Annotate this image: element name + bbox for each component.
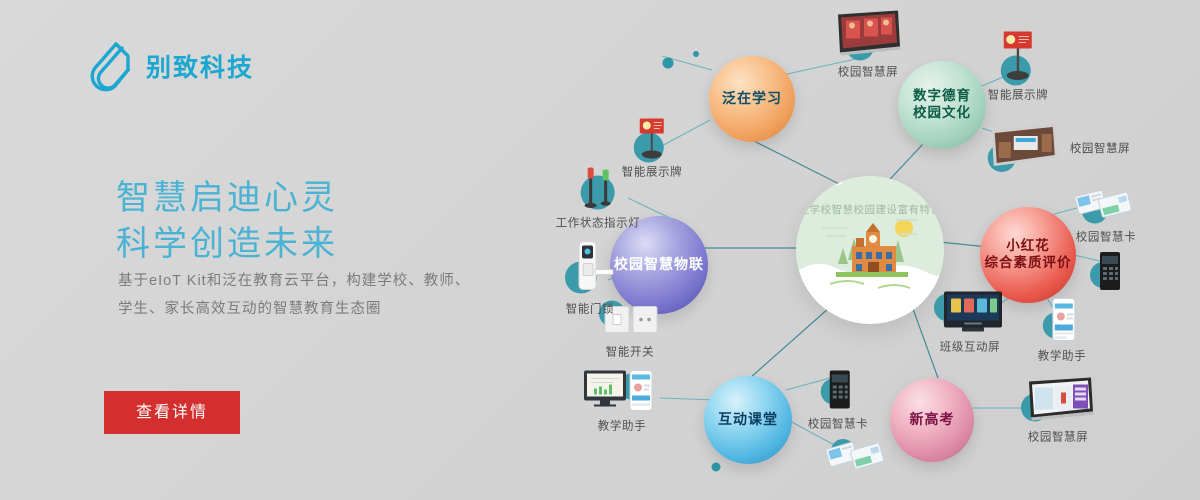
leaf-label: 校园智慧屏 — [1028, 429, 1089, 445]
leaf-label: 智能开关 — [606, 344, 654, 360]
brand-logo-block[interactable]: 别致科技 — [88, 40, 254, 92]
node-label: 新高考 — [910, 411, 955, 429]
leaf-label: 智能展示牌 — [988, 87, 1049, 103]
hero-subtitle: 基于eIoT Kit和泛在教育云平台，构建学校、教师、 学生、家长高效互动的智慧… — [118, 267, 538, 323]
desktop-mobile-icon — [582, 367, 662, 415]
node-label-line1: 数字德育 — [913, 88, 971, 105]
leaf-campus-smart-screen-top[interactable]: 校园智慧屏 — [832, 9, 904, 80]
mobile-app-icon — [1043, 297, 1081, 345]
center-hub-label: 让学校智慧校园建设富有特色 — [796, 204, 944, 217]
door-lock-icon — [563, 240, 617, 298]
page-title: 智慧启迪心灵 科学创造未来 — [116, 175, 338, 267]
headline-line-1: 智慧启迪心灵 — [116, 175, 338, 221]
leaf-card-reader-device[interactable] — [1090, 250, 1126, 294]
leaf-teaching-assistant-left[interactable]: 教学助手 — [582, 367, 662, 434]
signboard-icon — [996, 30, 1040, 84]
school-building-illustration — [796, 176, 944, 324]
paperclip-icon — [88, 40, 134, 92]
leaf-label: 校园智慧卡 — [808, 416, 869, 432]
leaf-label: 校园智慧卡 — [1076, 229, 1137, 245]
brand-name: 别致科技 — [146, 48, 254, 84]
leaf-label: 班级互动屏 — [940, 339, 1001, 355]
left-content-panel: 别致科技 智慧启迪心灵 科学创造未来 基于eIoT Kit和泛在教育云平台，构建… — [0, 0, 560, 500]
node-digital-moral-education[interactable]: 数字德育 校园文化 — [898, 61, 986, 149]
leaf-label: 校园智慧屏 — [838, 64, 899, 80]
node-label: 互动课堂 — [718, 411, 778, 429]
headline-line-2: 科学创造未来 — [116, 221, 338, 267]
leaf-label: 教学助手 — [598, 418, 646, 434]
card-reader-icon — [1090, 250, 1126, 294]
leaf-smart-cards-bottom[interactable] — [827, 437, 889, 477]
node-label-line2: 校园文化 — [913, 105, 971, 122]
signboard-icon — [630, 117, 674, 161]
tv-screen-icon — [832, 9, 904, 61]
diagram-center-hub[interactable]: 让学校智慧校园建设富有特色 — [796, 176, 944, 324]
leaf-label: 智能门锁 — [566, 301, 614, 317]
ecosystem-diagram: 让学校智慧校园建设富有特色 泛在学习 数字德育 校园文化 小红花 综合素质评价 … — [520, 0, 1200, 500]
node-label-line1: 小红花 — [1006, 238, 1050, 255]
indicator-light-icon — [571, 166, 625, 212]
smart-card-icon — [1076, 186, 1136, 226]
decor-dot — [712, 463, 721, 472]
node-label: 校园智慧物联 — [614, 256, 704, 274]
node-campus-smart-iot[interactable]: 校园智慧物联 — [610, 216, 708, 314]
card-reader-icon — [821, 369, 855, 413]
decor-dot — [663, 58, 674, 69]
leaf-teaching-assistant-right[interactable]: 教学助手 — [1038, 297, 1086, 364]
tv-screen-icon — [986, 122, 1062, 174]
leaf-smart-display-board-top-right[interactable]: 智能展示牌 — [988, 30, 1049, 103]
tv-screen-icon — [1021, 376, 1095, 426]
leaf-campus-smart-screen-bottom-right[interactable]: 校园智慧屏 — [1021, 376, 1095, 445]
leaf-smart-door-lock[interactable]: 智能门锁 — [563, 240, 617, 317]
smart-card-icon — [827, 437, 889, 477]
interactive-panel-icon — [934, 290, 1006, 336]
node-label-line2: 综合素质评价 — [985, 255, 1072, 272]
leaf-label: 教学助手 — [1038, 348, 1086, 364]
hero-banner: 别致科技 智慧启迪心灵 科学创造未来 基于eIoT Kit和泛在教育云平台，构建… — [0, 0, 1200, 500]
decor-dot — [693, 51, 699, 57]
subtitle-line-1: 基于eIoT Kit和泛在教育云平台，构建学校、教师、 — [118, 267, 538, 295]
subtitle-line-2: 学生、家长高效互动的智慧教育生态圈 — [118, 295, 538, 323]
leaf-campus-smart-card-right[interactable]: 校园智慧卡 — [1076, 186, 1137, 245]
leaf-class-interactive-screen[interactable]: 班级互动屏 — [934, 290, 1006, 355]
leaf-campus-smart-card-bottom[interactable]: 校园智慧卡 — [808, 369, 869, 432]
node-ubiquitous-learning[interactable]: 泛在学习 — [709, 56, 795, 142]
node-label: 泛在学习 — [722, 90, 782, 108]
leaf-label: 工作状态指示灯 — [556, 215, 641, 231]
node-new-gaokao[interactable]: 新高考 — [890, 378, 974, 462]
leaf-campus-smart-screen-right-top[interactable]: 校园智慧屏 — [986, 122, 1131, 174]
leaf-label: 校园智慧屏 — [1070, 140, 1131, 156]
leaf-work-status-indicator[interactable]: 工作状态指示灯 — [556, 166, 641, 231]
node-interactive-classroom[interactable]: 互动课堂 — [704, 376, 792, 464]
view-details-button[interactable]: 查看详情 — [104, 391, 240, 434]
